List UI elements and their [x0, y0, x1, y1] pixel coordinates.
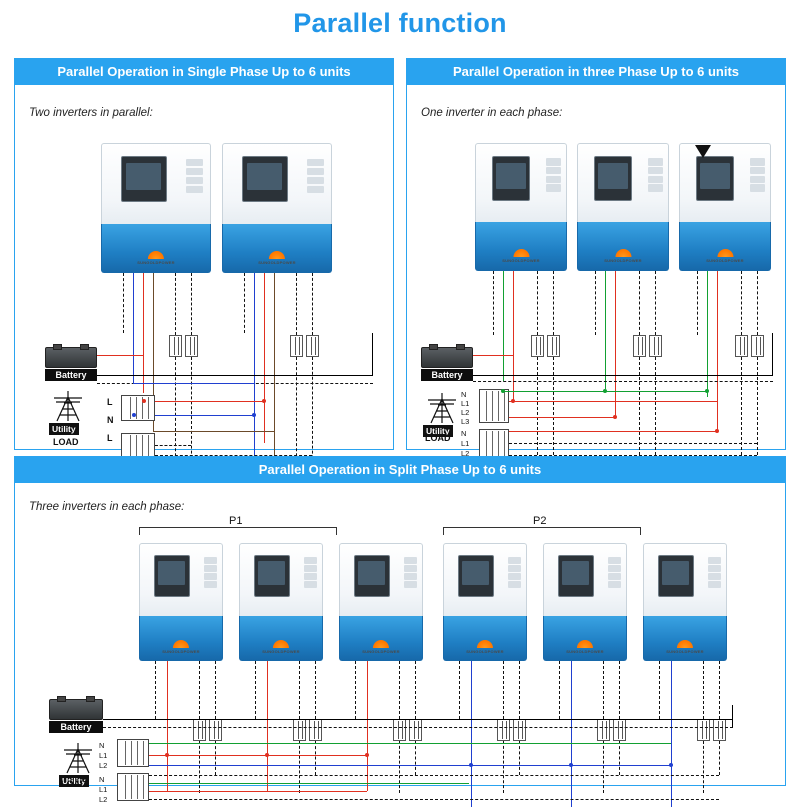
- terminal-tag-n: N: [461, 390, 466, 399]
- panel-split-phase: Parallel Operation in Split Phase Up to …: [14, 456, 786, 786]
- wire-red: [167, 661, 168, 791]
- wire: [415, 741, 416, 775]
- wire: [473, 375, 773, 376]
- wire: [595, 271, 596, 335]
- sun-icon: [615, 249, 631, 257]
- wire: [655, 271, 656, 335]
- inverter-logo: SUNGOLDPOWER: [355, 640, 407, 654]
- terminal-tag-l2: L2: [99, 761, 107, 770]
- terminal-tag-l: L: [107, 433, 113, 443]
- wire: [509, 443, 757, 444]
- inverter-display: [242, 156, 288, 202]
- load-label: LOAD: [425, 433, 451, 443]
- junction-dot: [511, 399, 515, 403]
- wire-red: [717, 271, 718, 431]
- inverter-unit[interactable]: SUNGOLDPOWER: [339, 543, 423, 661]
- junction-dot: [142, 399, 146, 403]
- battery: Battery: [45, 347, 97, 381]
- terminal-tag-n: N: [107, 415, 114, 425]
- wire: [149, 775, 719, 776]
- inverter-display: [492, 156, 531, 202]
- page-title: Parallel function: [0, 8, 800, 39]
- group-bracket-p2: [443, 527, 641, 535]
- utility-tower: Utility: [61, 741, 95, 775]
- load-label: LOAD: [61, 779, 87, 789]
- inverter-buttons[interactable]: [608, 557, 621, 595]
- wire: [719, 741, 720, 775]
- circuit-breaker: [290, 335, 303, 357]
- wire-red: [509, 431, 717, 432]
- panel-single-phase: Parallel Operation in Single Phase Up to…: [14, 58, 394, 450]
- battery: Battery: [49, 699, 103, 733]
- inverter-buttons[interactable]: [307, 159, 325, 201]
- sun-icon: [577, 640, 593, 648]
- battery-body: [421, 347, 473, 368]
- wire: [757, 271, 758, 335]
- wire: [215, 741, 216, 775]
- wire: [655, 357, 656, 455]
- inverter-unit[interactable]: SUNGOLDPOWER: [222, 143, 332, 273]
- circuit-breaker: [293, 719, 306, 741]
- wire-red: [149, 755, 367, 756]
- terminal-tag-n: N: [99, 741, 104, 750]
- utility-tower: Utility: [425, 391, 459, 425]
- inverter-bottom-shell: [543, 616, 627, 661]
- panel-single-phase-body: Two inverters in parallel: SUNGOLDPOWER …: [15, 85, 393, 449]
- sun-icon: [273, 640, 289, 648]
- inverter-bottom-shell: [139, 616, 223, 661]
- wire-blue: [155, 415, 254, 416]
- sun-icon: [477, 640, 493, 648]
- terminal-block-utility: [117, 739, 149, 767]
- circuit-breaker: [193, 719, 206, 741]
- inverter-brand: SUNGOLDPOWER: [122, 260, 190, 265]
- inverter-unit[interactable]: SUNGOLDPOWER: [139, 543, 223, 661]
- wire: [299, 661, 300, 719]
- wire: [703, 741, 704, 793]
- panel-single-phase-header: Parallel Operation in Single Phase Up to…: [15, 59, 393, 85]
- wire: [519, 661, 520, 719]
- terminal-block-utility: [121, 395, 155, 421]
- wire-blue: [133, 273, 134, 383]
- sun-icon: [173, 640, 189, 648]
- inverter-unit[interactable]: SUNGOLDPOWER: [543, 543, 627, 661]
- wire: [299, 741, 300, 793]
- load-label: LOAD: [53, 437, 79, 447]
- wire-red: [264, 273, 265, 443]
- terminal-block-load: [117, 773, 149, 801]
- terminal-tag-l1: L1: [461, 399, 469, 408]
- battery-label: Battery: [45, 369, 97, 381]
- wire-blue: [671, 661, 672, 807]
- wire-red: [149, 791, 367, 792]
- inverter-unit[interactable]: SUNGOLDPOWER: [679, 143, 771, 271]
- utility-tower: Utility: [51, 389, 85, 423]
- terminal-tag-l1: L1: [99, 785, 107, 794]
- wire: [703, 661, 704, 719]
- junction-dot: [603, 389, 607, 393]
- circuit-breaker: [697, 719, 710, 741]
- wire: [123, 273, 124, 333]
- panel-three-phase-subtitle: One inverter in each phase:: [421, 107, 562, 119]
- inverter-bottom-shell: [643, 616, 727, 661]
- inverter-logo: SUNGOLDPOWER: [243, 251, 311, 265]
- wire: [399, 741, 400, 793]
- junction-dot: [613, 415, 617, 419]
- inverter-bottom-shell: [239, 616, 323, 661]
- sun-icon: [717, 249, 733, 257]
- wire: [315, 741, 316, 775]
- inverter-bottom-shell: [475, 222, 567, 271]
- inverter-brand: SUNGOLDPOWER: [155, 649, 207, 654]
- circuit-breaker: [649, 335, 662, 357]
- inverter-brand: SUNGOLDPOWER: [243, 260, 311, 265]
- inverter-logo: SUNGOLDPOWER: [122, 251, 190, 265]
- wire: [519, 741, 520, 775]
- junction-dot: [569, 763, 573, 767]
- group-bracket-p1: [139, 527, 337, 535]
- wire: [553, 357, 554, 455]
- wire: [559, 661, 560, 719]
- tower-icon: [425, 391, 459, 425]
- junction-dot: [705, 389, 709, 393]
- wire: [459, 661, 460, 719]
- inverter-brand: SUNGOLDPOWER: [559, 649, 611, 654]
- wire-green: [707, 271, 708, 397]
- junction-dot: [469, 763, 473, 767]
- inverter-buttons[interactable]: [708, 557, 721, 595]
- wire-green: [149, 743, 671, 744]
- panel-three-phase-body: One inverter in each phase: SUNGOLDPOWER…: [407, 85, 785, 449]
- wire: [175, 273, 176, 335]
- inverter-logo: SUNGOLDPOWER: [459, 640, 511, 654]
- inverter-unit[interactable]: SUNGOLDPOWER: [643, 543, 727, 661]
- wire-brown: [153, 431, 274, 432]
- wire: [103, 719, 733, 720]
- inverter-buttons[interactable]: [304, 557, 317, 595]
- wire-green: [605, 271, 606, 389]
- wire-green: [503, 271, 504, 381]
- panel-split-phase-subtitle: Three inverters in each phase:: [29, 501, 184, 513]
- inverter-brand: SUNGOLDPOWER: [659, 649, 711, 654]
- sun-icon: [513, 249, 529, 257]
- wire: [296, 273, 297, 335]
- wire-red: [509, 417, 615, 418]
- circuit-breaker: [597, 719, 610, 741]
- battery: Battery: [421, 347, 473, 381]
- inverter-buttons[interactable]: [546, 158, 561, 199]
- wire: [399, 661, 400, 719]
- panel-three-phase: Parallel Operation in three Phase Up to …: [406, 58, 786, 450]
- terminal-block-utility: [479, 389, 509, 423]
- inverter-display: [458, 555, 494, 597]
- wire-red: [97, 355, 143, 356]
- junction-dot: [165, 753, 169, 757]
- battery-label: Battery: [421, 369, 473, 381]
- tower-icon: [61, 741, 95, 775]
- inverter-bottom-shell: [339, 616, 423, 661]
- wire-red: [367, 661, 368, 791]
- inverter-display: [658, 555, 694, 597]
- wire-red: [155, 401, 264, 402]
- inverter-logo: SUNGOLDPOWER: [255, 640, 307, 654]
- inverter-display: [354, 555, 390, 597]
- inverter-logo: SUNGOLDPOWER: [559, 640, 611, 654]
- sun-icon: [373, 640, 389, 648]
- junction-dot: [265, 753, 269, 757]
- battery-body: [45, 347, 97, 368]
- terminal-tag-l: L: [107, 397, 113, 407]
- inverter-logo: SUNGOLDPOWER: [492, 249, 549, 263]
- inverter-logo: SUNGOLDPOWER: [659, 640, 711, 654]
- wire: [372, 333, 373, 375]
- wire: [199, 741, 200, 793]
- inverter-display: [558, 555, 594, 597]
- wire: [473, 381, 773, 382]
- panel-split-phase-body: Three inverters in each phase: P1 P2 SUN…: [15, 483, 785, 785]
- inverter-brand: SUNGOLDPOWER: [492, 258, 549, 263]
- group-label-p1: P1: [229, 515, 242, 527]
- circuit-breaker: [751, 335, 764, 357]
- inverter-brand: SUNGOLDPOWER: [594, 258, 651, 263]
- sun-icon: [677, 640, 693, 648]
- inverter-brand: SUNGOLDPOWER: [255, 649, 307, 654]
- inverter-unit[interactable]: SUNGOLDPOWER: [577, 143, 669, 271]
- inverter-buttons[interactable]: [404, 557, 417, 595]
- wire: [191, 273, 192, 335]
- inverter-buttons[interactable]: [648, 158, 663, 199]
- circuit-breaker: [497, 719, 510, 741]
- wire: [619, 741, 620, 775]
- inverter-display: [154, 555, 190, 597]
- junction-dot: [365, 753, 369, 757]
- wire: [415, 661, 416, 719]
- wire-red: [473, 355, 513, 356]
- wire: [757, 357, 758, 455]
- wire: [355, 661, 356, 719]
- wire: [553, 271, 554, 335]
- circuit-breaker: [531, 335, 544, 357]
- wire: [537, 271, 538, 335]
- inverter-buttons[interactable]: [204, 557, 217, 595]
- wire: [199, 661, 200, 719]
- wire: [603, 741, 604, 793]
- circuit-breaker: [613, 719, 626, 741]
- wire: [493, 271, 494, 335]
- wire-blue: [254, 273, 255, 473]
- inverter-bottom-shell: [577, 222, 669, 271]
- wire: [503, 741, 504, 793]
- wire: [255, 661, 256, 719]
- circuit-breaker: [713, 719, 726, 741]
- inverter-buttons[interactable]: [750, 158, 765, 199]
- wire-green: [149, 783, 469, 784]
- junction-dot: [252, 413, 256, 417]
- circuit-breaker: [309, 719, 322, 741]
- wire-red: [509, 401, 717, 402]
- panel-three-phase-header: Parallel Operation in three Phase Up to …: [407, 59, 785, 85]
- tower-icon: [51, 389, 85, 423]
- inverter-buttons[interactable]: [508, 557, 521, 595]
- wire: [155, 661, 156, 719]
- inverter-brand: SUNGOLDPOWER: [459, 649, 511, 654]
- wire: [312, 273, 313, 335]
- wire: [215, 661, 216, 719]
- circuit-breaker: [393, 719, 406, 741]
- sun-icon: [148, 251, 164, 259]
- terminal-tag-l2: L2: [461, 408, 469, 417]
- wire: [603, 661, 604, 719]
- circuit-breaker: [547, 335, 560, 357]
- group-label-p2: P2: [533, 515, 546, 527]
- cursor-arrow-icon: [695, 145, 711, 158]
- wire: [503, 661, 504, 719]
- utility-label: Utility: [49, 423, 79, 435]
- wire-blue: [571, 661, 572, 807]
- circuit-breaker: [185, 335, 198, 357]
- inverter-bottom-shell: [222, 224, 332, 273]
- terminal-tag-l1: L1: [461, 439, 469, 448]
- circuit-breaker: [209, 719, 222, 741]
- circuit-breaker: [735, 335, 748, 357]
- wire: [659, 661, 660, 719]
- wire-blue: [471, 661, 472, 807]
- junction-dot: [501, 389, 505, 393]
- wire-blue: [149, 765, 671, 766]
- wire: [741, 271, 742, 335]
- wire: [155, 445, 191, 446]
- terminal-tag-n: N: [461, 429, 466, 438]
- inverter-brand: SUNGOLDPOWER: [355, 649, 407, 654]
- wire: [772, 333, 773, 375]
- circuit-breaker: [306, 335, 319, 357]
- circuit-breaker: [633, 335, 646, 357]
- circuit-breaker: [169, 335, 182, 357]
- inverter-unit[interactable]: SUNGOLDPOWER: [101, 143, 211, 273]
- wire-red: [615, 271, 616, 417]
- wire: [719, 661, 720, 719]
- wire-brown: [274, 273, 275, 481]
- inverter-unit[interactable]: SUNGOLDPOWER: [475, 143, 567, 271]
- inverter-unit[interactable]: SUNGOLDPOWER: [239, 543, 323, 661]
- junction-dot: [669, 763, 673, 767]
- wire: [639, 271, 640, 335]
- wire: [97, 375, 373, 376]
- circuit-breaker: [513, 719, 526, 741]
- inverter-buttons[interactable]: [186, 159, 204, 201]
- battery-body: [49, 699, 103, 720]
- inverter-bottom-shell: [679, 222, 771, 271]
- terminal-tag-l1: L1: [99, 751, 107, 760]
- inverter-display: [696, 156, 735, 202]
- junction-dot: [262, 399, 266, 403]
- inverter-logo: SUNGOLDPOWER: [594, 249, 651, 263]
- panel-split-phase-header: Parallel Operation in Split Phase Up to …: [15, 457, 785, 483]
- sun-icon: [269, 251, 285, 259]
- wire: [103, 727, 733, 728]
- wire-red: [267, 661, 268, 791]
- circuit-breaker: [409, 719, 422, 741]
- battery-label: Battery: [49, 721, 103, 733]
- wire-blue: [133, 383, 254, 384]
- inverter-logo: SUNGOLDPOWER: [696, 249, 753, 263]
- wire: [619, 661, 620, 719]
- inverter-unit[interactable]: SUNGOLDPOWER: [443, 543, 527, 661]
- wire: [315, 661, 316, 719]
- panel-single-phase-subtitle: Two inverters in parallel:: [29, 107, 153, 119]
- wire: [697, 271, 698, 335]
- junction-dot: [715, 429, 719, 433]
- inverter-brand: SUNGOLDPOWER: [696, 258, 753, 263]
- inverter-logo: SUNGOLDPOWER: [155, 640, 207, 654]
- wire: [732, 705, 733, 727]
- inverter-display: [254, 555, 290, 597]
- inverter-bottom-shell: [101, 224, 211, 273]
- terminal-tag-n: N: [99, 775, 104, 784]
- junction-dot: [132, 413, 136, 417]
- inverter-display: [594, 156, 633, 202]
- inverter-bottom-shell: [443, 616, 527, 661]
- terminal-tag-l3: L3: [461, 417, 469, 426]
- wire: [244, 273, 245, 333]
- inverter-display: [121, 156, 167, 202]
